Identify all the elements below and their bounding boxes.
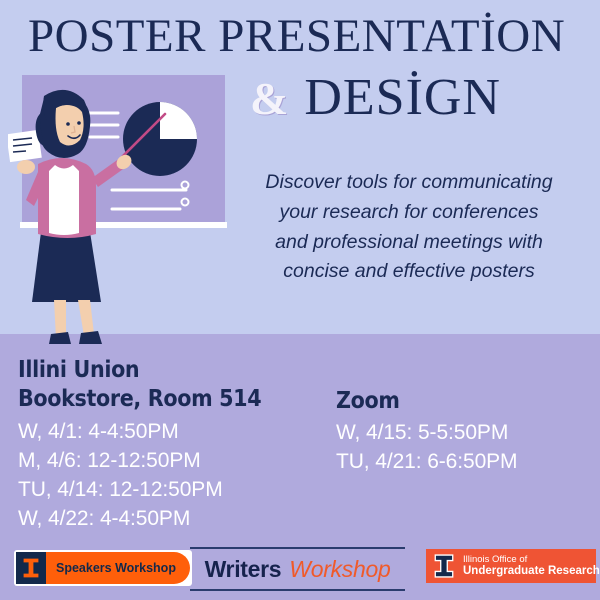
undergraduate-research-text: Illinois Office of Undergraduate Researc… [456,554,600,579]
schedule-column-in-person: Illini Union Bookstore, Room 514 W, 4/1:… [18,356,338,534]
page-title-line-1: POSTER PRESENTATİON [28,13,588,60]
white-top-icon [49,165,79,235]
session-item: TU, 4/21: 6-6:50PM [336,448,596,477]
speakers-workshop-label: Speakers Workshop [46,552,190,584]
schedule-column-zoom: Zoom W, 4/15: 5-5:50PM TU, 4/21: 6-6:50P… [336,387,596,477]
session-list-in-person: W, 4/1: 4-4:50PM M, 4/6: 12-12:50PM TU, … [18,418,338,534]
session-item: W, 4/22: 4-4:50PM [18,505,338,534]
venue-line: Bookstore, Room 514 [18,385,306,414]
venue-heading-in-person: Illini Union Bookstore, Room 514 [18,356,306,415]
writers-word: Writers [205,556,282,583]
session-item: TU, 4/14: 12-12:50PM [18,476,338,505]
session-item: M, 4/6: 12-12:50PM [18,447,338,476]
description-line: your research for conferences [228,198,590,228]
session-list-zoom: W, 4/15: 5-5:50PM TU, 4/21: 6-6:50PM [336,419,596,477]
pie-chart-icon [123,102,197,176]
block-i-glyph [22,557,40,579]
office-line: Illinois Office of [463,554,600,565]
block-i-glyph [434,554,454,578]
description-line: and professional meetings with [228,228,590,258]
program-line: Undergraduate Research [463,565,600,579]
description-block: Discover tools for communicating your re… [228,168,590,287]
session-item: W, 4/15: 5-5:50PM [336,419,596,448]
venue-heading-zoom: Zoom [336,387,570,416]
page-title-design: DESİGN [304,69,501,126]
workshop-word: Workshop [281,556,390,583]
presenter-illustration [8,72,238,352]
skirt-icon [32,232,101,302]
description-line: concise and effective posters [228,257,590,287]
undergraduate-research-logo: Illinois Office of Undergraduate Researc… [426,549,596,583]
writers-workshop-logo: Writers Workshop [190,547,405,591]
page-title-line-2: &DESİGN [250,72,501,124]
session-item: W, 4/1: 4-4:50PM [18,418,338,447]
illinois-block-i-icon [16,552,46,584]
venue-line: Illini Union [18,356,306,385]
speakers-workshop-logo: Speakers Workshop [14,550,192,586]
description-line: Discover tools for communicating [228,168,590,198]
illinois-block-i-icon [432,552,456,580]
venue-line: Zoom [336,387,570,416]
poster-canvas: POSTER PRESENTATİON &DESİGN Discover too… [0,0,600,600]
ampersand-glyph: & [250,73,304,124]
footer-logo-bar: Speakers Workshop Writers Workshop Illin… [0,546,600,600]
